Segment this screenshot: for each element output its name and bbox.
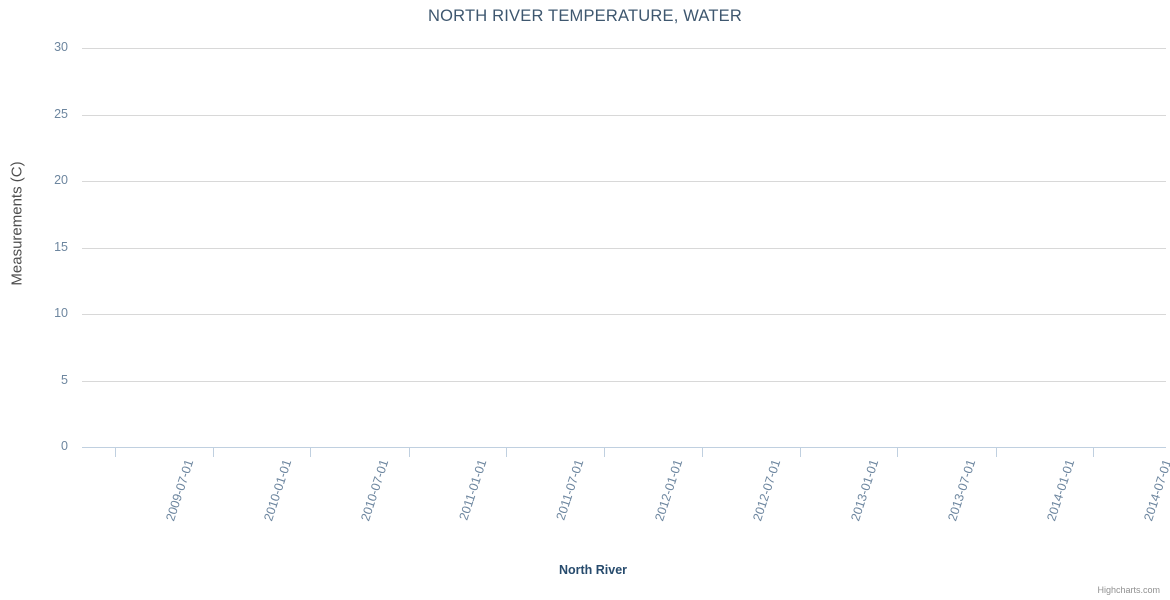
x-axis-line <box>82 447 1166 448</box>
data-point[interactable] <box>306 115 315 124</box>
data-point[interactable] <box>466 270 475 279</box>
data-point[interactable] <box>180 339 189 348</box>
x-axis-tick-mark <box>604 448 605 457</box>
data-point[interactable] <box>1092 103 1101 112</box>
x-axis-tick-mark <box>213 448 214 457</box>
gridline <box>82 48 1166 49</box>
x-axis-tick-mark <box>1093 448 1094 457</box>
gridline <box>82 248 1166 249</box>
x-axis-tick-label: 2013-01-01 <box>849 458 881 523</box>
data-point[interactable] <box>1152 288 1161 297</box>
data-point[interactable] <box>350 312 359 321</box>
data-point[interactable] <box>1073 200 1082 209</box>
x-axis-tick-label: 2009-07-01 <box>164 458 196 523</box>
data-point[interactable] <box>383 431 392 440</box>
y-axis-tick-label: 30 <box>54 41 68 54</box>
data-point[interactable] <box>1084 131 1093 140</box>
credits-link[interactable]: Highcharts.com <box>1097 585 1160 595</box>
x-axis-tick-mark <box>897 448 898 457</box>
data-point[interactable] <box>1111 187 1120 196</box>
y-axis-tick-label: 15 <box>54 241 68 254</box>
x-axis-tick-label: 2010-01-01 <box>262 458 294 523</box>
data-point[interactable] <box>365 339 374 348</box>
gridline <box>82 181 1166 182</box>
y-axis-tick-label: 20 <box>54 174 68 187</box>
data-point[interactable] <box>931 244 940 253</box>
data-point[interactable] <box>481 159 490 168</box>
x-axis-tick-label: 2010-07-01 <box>359 458 391 523</box>
gridline <box>82 381 1166 382</box>
gridline <box>82 115 1166 116</box>
data-point[interactable] <box>200 399 209 408</box>
data-point[interactable] <box>661 242 670 251</box>
x-axis-tick-label: 2011-07-01 <box>554 458 585 522</box>
x-axis-tick-label: 2014-01-01 <box>1045 458 1077 523</box>
data-point[interactable] <box>871 211 880 220</box>
x-axis-tick-mark <box>409 448 410 457</box>
data-point[interactable] <box>518 165 527 174</box>
y-axis-tick-label: 5 <box>61 374 68 387</box>
data-point[interactable] <box>121 163 130 172</box>
data-point[interactable] <box>938 262 947 271</box>
data-point[interactable] <box>687 101 696 110</box>
data-point[interactable] <box>158 198 167 207</box>
chart-container: NORTH RIVER TEMPERATURE, WATER Measureme… <box>0 0 1170 600</box>
x-axis-tick-mark <box>996 448 997 457</box>
x-axis-tick-mark <box>506 448 507 457</box>
plot-area <box>82 48 1166 447</box>
x-axis-tick-label: 2012-07-01 <box>751 458 783 523</box>
data-point[interactable] <box>500 97 509 106</box>
chart-title: NORTH RIVER TEMPERATURE, WATER <box>0 7 1170 26</box>
x-axis-tick-mark <box>310 448 311 457</box>
legend-marker-icon <box>543 564 552 573</box>
data-point[interactable] <box>751 367 760 376</box>
x-axis-tick-label: 2013-07-01 <box>946 458 978 523</box>
legend-item-label: North River <box>559 563 627 577</box>
y-axis-title: Measurements (C) <box>9 44 26 404</box>
y-axis-tick-label: 10 <box>54 307 68 320</box>
y-axis-tick-label: 0 <box>61 440 68 453</box>
data-point[interactable] <box>102 240 111 249</box>
data-point[interactable] <box>904 157 913 166</box>
gridline <box>82 314 1166 315</box>
data-point[interactable] <box>702 115 711 124</box>
chart-legend: North River <box>0 563 1170 577</box>
y-axis-tick-label: 25 <box>54 108 68 121</box>
x-axis-tick-mark <box>800 448 801 457</box>
x-axis-tick-mark <box>702 448 703 457</box>
x-axis-tick-label: 2014-07-01 <box>1142 458 1170 523</box>
x-axis-tick-mark <box>115 448 116 457</box>
x-axis-tick-label: 2012-01-01 <box>653 458 685 523</box>
legend-item-north-river[interactable]: North River <box>543 563 627 577</box>
data-point[interactable] <box>140 111 149 120</box>
data-point[interactable] <box>545 306 554 315</box>
x-axis-tick-label: 2011-01-01 <box>457 458 488 522</box>
data-point[interactable] <box>331 206 340 215</box>
